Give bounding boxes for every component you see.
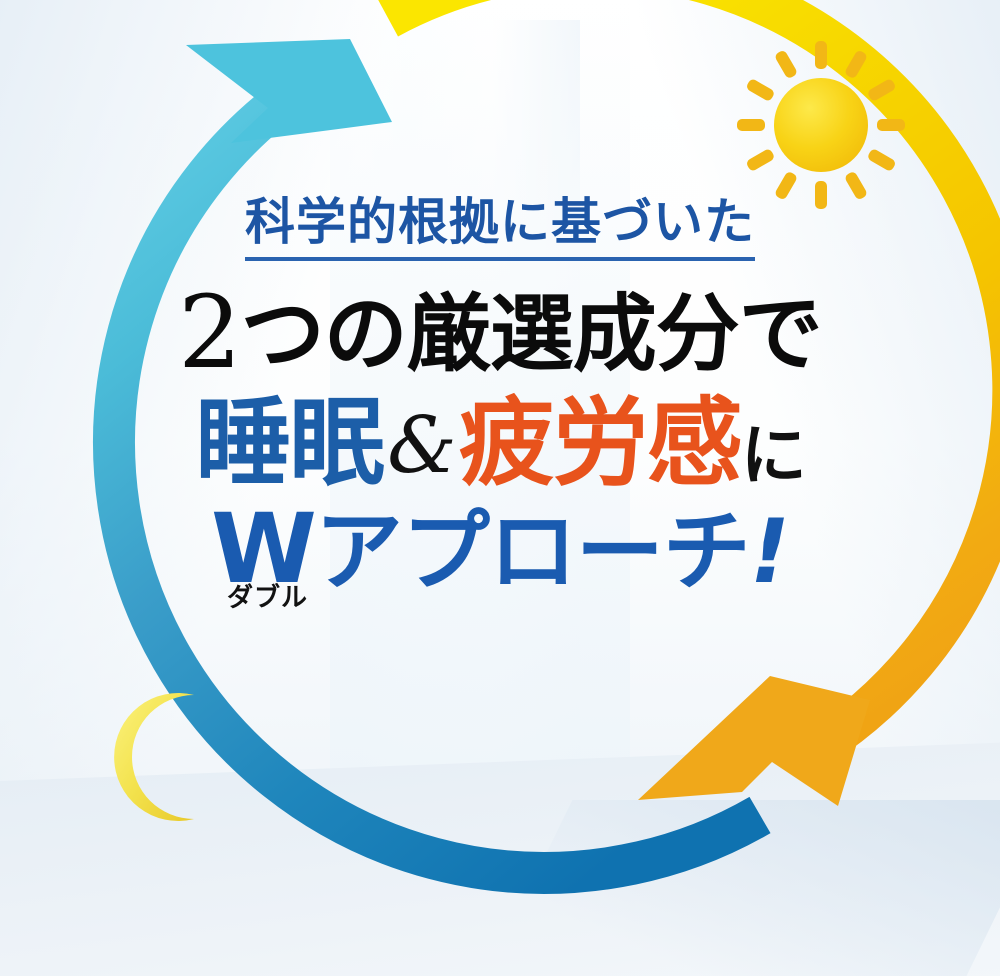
blue-cycle-arrow-icon	[114, 39, 760, 873]
blue-arrow-head	[186, 39, 392, 143]
cycle-diagram	[0, 0, 1000, 976]
yellow-arrow-head	[638, 676, 870, 806]
moon-icon	[114, 693, 194, 821]
yellow-cycle-arrow-icon	[388, 0, 1000, 806]
promo-banner: 科学的根拠に基づいた 2つの厳選成分で 睡眠&疲労感に Wアプローチ! ダブル	[0, 0, 1000, 976]
